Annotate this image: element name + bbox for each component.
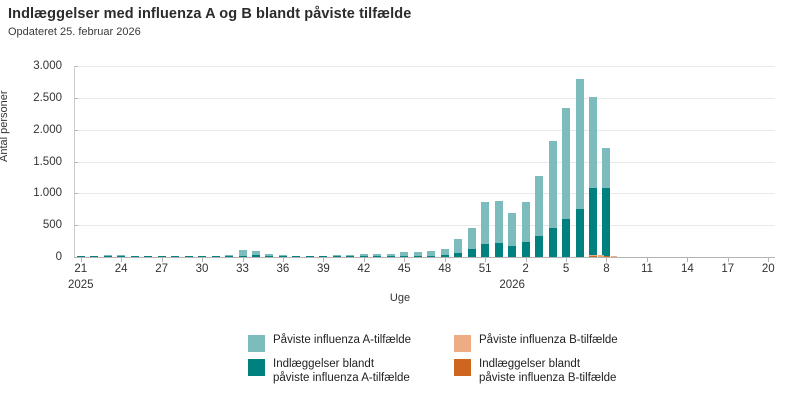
bar-column[interactable] — [185, 66, 193, 257]
bar-column[interactable] — [292, 66, 300, 257]
bar-column[interactable] — [387, 66, 395, 257]
x-axis-year-label: 2026 — [499, 279, 525, 291]
bar-column[interactable] — [360, 66, 368, 257]
x-axis-tick-mark — [687, 257, 688, 262]
bar-segment-flu-a-admissions — [481, 244, 489, 257]
x-axis-tick-mark — [162, 257, 163, 262]
bar-column[interactable] — [562, 66, 570, 257]
y-axis-label: Antal personer — [0, 90, 10, 162]
legend-swatch — [248, 359, 265, 376]
bar-segment-flu-a-admissions — [171, 256, 179, 257]
x-axis-tick-label: 27 — [155, 263, 168, 275]
bar-segment-flu-a-admissions — [131, 256, 139, 257]
legend-item[interactable]: Indlæggelser blandt påviste influenza B-… — [454, 358, 664, 385]
bar-column[interactable] — [319, 66, 327, 257]
bar-column[interactable] — [400, 66, 408, 257]
y-axis-tick-label: 500 — [0, 219, 62, 231]
y-axis-tick-label: 3.000 — [0, 60, 62, 72]
bar-column[interactable] — [239, 66, 247, 257]
bar-column-flu-b[interactable] — [598, 255, 604, 257]
bar-column[interactable] — [131, 66, 139, 257]
x-axis-tick-mark — [404, 257, 405, 262]
legend-label: Indlæggelser blandt påviste influenza A-… — [273, 358, 410, 385]
bar-column[interactable] — [117, 66, 125, 257]
bar-column[interactable] — [549, 66, 557, 257]
y-axis-tick-label: 1.000 — [0, 187, 62, 199]
bar-segment-flu-a-admissions — [185, 256, 193, 257]
bar-column[interactable] — [346, 66, 354, 257]
bar-segment-flu-a-admissions — [225, 256, 233, 257]
x-axis-tick-label: 51 — [479, 263, 492, 275]
plot-area: 05001.0001.5002.0002.5003.000 2124273033… — [0, 0, 800, 320]
bar-segment-flu-a-admissions — [495, 243, 503, 257]
x-axis-tick-label: 21 — [74, 263, 87, 275]
bar-segment-flu-a-admissions — [306, 256, 314, 257]
legend-swatch — [454, 359, 471, 376]
x-axis-tick-label: 45 — [398, 263, 411, 275]
bar-column[interactable] — [454, 66, 462, 257]
bar-segment-flu-a-admissions — [333, 256, 341, 257]
bar-segment-flu-a-admissions — [468, 249, 476, 257]
x-axis-tick-label: 30 — [196, 263, 209, 275]
bar-segment-flu-a-admissions — [602, 188, 610, 257]
bar-segment-flu-a-admissions — [104, 256, 112, 257]
bar-segment-flu-a-admissions — [252, 255, 260, 257]
chart-legend: Påviste influenza A-tilfældePåviste infl… — [248, 334, 678, 385]
bar-column[interactable] — [104, 66, 112, 257]
bar-segment-flu-a-admissions — [265, 256, 273, 257]
chart-container: Indlæggelser med influenza A og B blandt… — [0, 0, 800, 409]
x-axis-tick-mark — [768, 257, 769, 262]
bar-column[interactable] — [481, 66, 489, 257]
bar-column[interactable] — [522, 66, 530, 257]
bar-segment-flu-a-admissions — [292, 256, 300, 257]
bar-column[interactable] — [441, 66, 449, 257]
bar-column[interactable] — [158, 66, 166, 257]
x-axis-tick-mark — [81, 257, 82, 262]
x-axis-tick-mark — [526, 257, 527, 262]
bar-column[interactable] — [265, 66, 273, 257]
bar-column[interactable] — [414, 66, 422, 257]
x-axis-tick-mark — [647, 257, 648, 262]
x-axis-tick-label: 11 — [641, 263, 653, 275]
bar-column[interactable] — [602, 66, 610, 257]
x-axis-label: Uge — [0, 292, 800, 304]
x-axis-tick-mark — [606, 257, 607, 262]
bar-segment-flu-a-admissions — [535, 236, 543, 257]
x-axis-tick-mark — [445, 257, 446, 262]
x-axis-tick-label: 17 — [721, 263, 734, 275]
bar-column[interactable] — [171, 66, 179, 257]
bar-column[interactable] — [508, 66, 516, 257]
bar-column[interactable] — [198, 66, 206, 257]
legend-item[interactable]: Indlæggelser blandt påviste influenza A-… — [248, 358, 440, 385]
bar-segment-flu-b-admissions — [589, 256, 597, 257]
x-axis-tick-label: 36 — [277, 263, 290, 275]
x-axis-tick-mark — [728, 257, 729, 262]
bar-segment-flu-a-admissions — [387, 256, 395, 257]
bar-column[interactable] — [576, 66, 584, 257]
bar-column-flu-b[interactable] — [611, 256, 617, 258]
bar-column[interactable] — [535, 66, 543, 257]
bar-segment-flu-a-admissions — [562, 219, 570, 257]
bar-segment-flu-a-admissions — [576, 209, 584, 257]
bar-segment-flu-a-admissions — [414, 256, 422, 257]
bar-column[interactable] — [144, 66, 152, 257]
x-axis-tick-label: 2 — [522, 263, 528, 275]
x-axis-tick-mark — [202, 257, 203, 262]
bar-segment-flu-a-admissions — [589, 188, 597, 257]
bar-column[interactable] — [212, 66, 220, 257]
bar-column[interactable] — [279, 66, 287, 257]
bar-column[interactable] — [427, 66, 435, 257]
legend-swatch — [454, 335, 471, 352]
bar-column[interactable] — [90, 66, 98, 257]
bar-column[interactable] — [495, 66, 503, 257]
x-axis-tick-label: 14 — [681, 263, 694, 275]
x-axis-tick-mark — [566, 257, 567, 262]
x-axis-line — [74, 257, 775, 258]
x-axis-tick-label: 24 — [115, 263, 128, 275]
x-axis-tick-mark — [485, 257, 486, 262]
bar-column[interactable] — [373, 66, 381, 257]
bar-segment-flu-a-admissions — [144, 256, 152, 257]
x-axis-tick-mark — [283, 257, 284, 262]
bar-segment-flu-a-admissions — [373, 256, 381, 257]
bar-column[interactable] — [333, 66, 341, 257]
x-axis-tick-mark — [323, 257, 324, 262]
x-axis-year-label: 2025 — [68, 279, 94, 291]
legend-swatch — [248, 335, 265, 352]
bar-segment-flu-a-admissions — [454, 253, 462, 257]
bar-column[interactable] — [589, 66, 597, 257]
y-axis-tick-label: 0 — [0, 251, 62, 263]
x-axis-tick-label: 48 — [438, 263, 451, 275]
x-axis-tick-label: 8 — [603, 263, 609, 275]
legend-label: Påviste influenza B-tilfælde — [479, 334, 618, 348]
x-axis-tick-label: 39 — [317, 263, 330, 275]
bar-column[interactable] — [252, 66, 260, 257]
legend-label: Påviste influenza A-tilfælde — [273, 334, 411, 348]
bar-series-group — [74, 66, 775, 257]
x-axis-tick-label: 5 — [563, 263, 569, 275]
x-axis-tick-label: 33 — [236, 263, 249, 275]
x-axis-tick-label: 42 — [357, 263, 370, 275]
x-axis-tick-mark — [243, 257, 244, 262]
bar-segment-flu-a-admissions — [346, 256, 354, 257]
x-axis-tick-mark — [364, 257, 365, 262]
legend-item[interactable]: Påviste influenza A-tilfælde — [248, 334, 440, 352]
bar-column[interactable] — [225, 66, 233, 257]
bar-column[interactable] — [468, 66, 476, 257]
bar-column[interactable] — [77, 66, 85, 257]
x-axis-tick-mark — [121, 257, 122, 262]
bar-segment-flu-a-admissions — [522, 242, 530, 257]
bar-segment-flu-a-admissions — [549, 228, 557, 257]
bar-segment-flu-a-admissions — [427, 256, 435, 257]
legend-label: Indlæggelser blandt påviste influenza B-… — [479, 358, 616, 385]
bar-column[interactable] — [306, 66, 314, 257]
bar-segment-flu-a-admissions — [212, 256, 220, 257]
bar-segment-flu-a-admissions — [508, 246, 516, 257]
x-axis-tick-label: 20 — [762, 263, 775, 275]
legend-item[interactable]: Påviste influenza B-tilfælde — [454, 334, 664, 352]
bar-segment-flu-a-admissions — [90, 256, 98, 257]
